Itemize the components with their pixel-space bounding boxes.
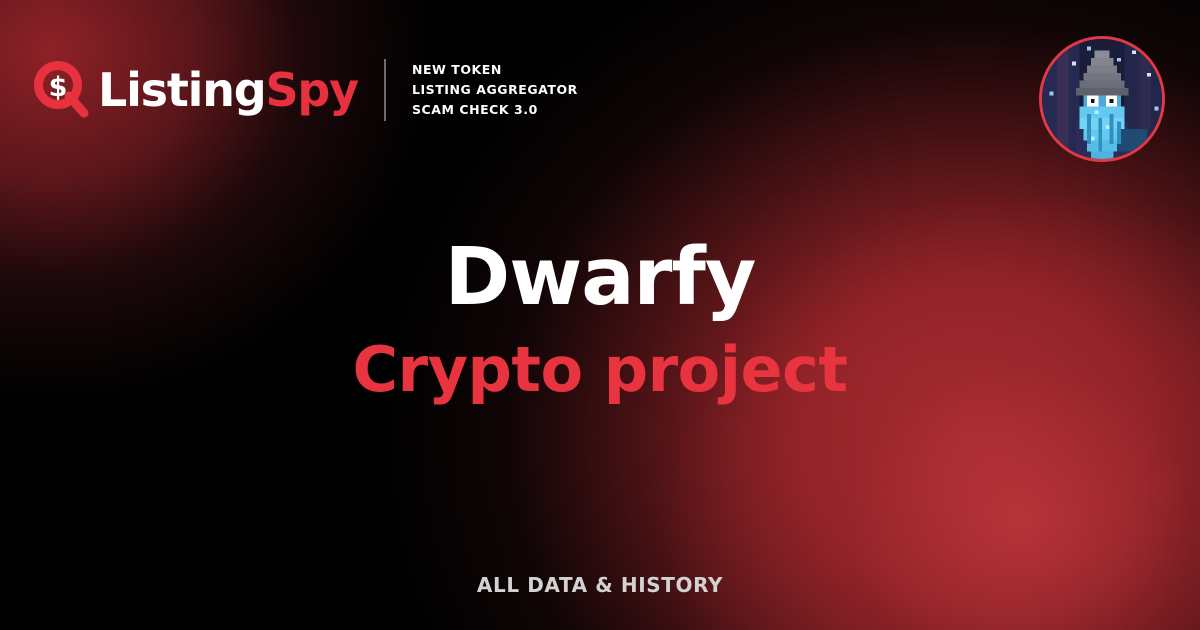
tagline-line-2: LISTING AGGREGATOR	[412, 80, 578, 100]
brand-wordmark: ListingSpy	[98, 67, 358, 113]
page-subtitle: Crypto project	[0, 339, 1200, 401]
magnifier-dollar-icon: $	[34, 60, 98, 120]
svg-text:$: $	[49, 72, 68, 103]
tagline-line-3: SCAM CHECK 3.0	[412, 100, 578, 120]
brand-tagline: NEW TOKEN LISTING AGGREGATOR SCAM CHECK …	[412, 60, 578, 119]
page-root: $ ListingSpy NEW TOKEN LISTING AGGREGATO…	[0, 0, 1200, 630]
page-title: Dwarfy	[0, 238, 1200, 317]
brand-wordmark-part-2: Spy	[266, 63, 358, 117]
footer-caption: ALL DATA & HISTORY	[0, 573, 1200, 597]
brand-logo-link[interactable]: $ ListingSpy	[34, 60, 358, 120]
hero-content: Dwarfy Crypto project	[0, 238, 1200, 401]
avatar[interactable]	[1039, 36, 1165, 162]
header-divider	[384, 59, 386, 121]
site-header: $ ListingSpy NEW TOKEN LISTING AGGREGATO…	[34, 52, 578, 128]
tagline-line-1: NEW TOKEN	[412, 60, 578, 80]
brand-wordmark-part-1: Listing	[98, 63, 266, 117]
